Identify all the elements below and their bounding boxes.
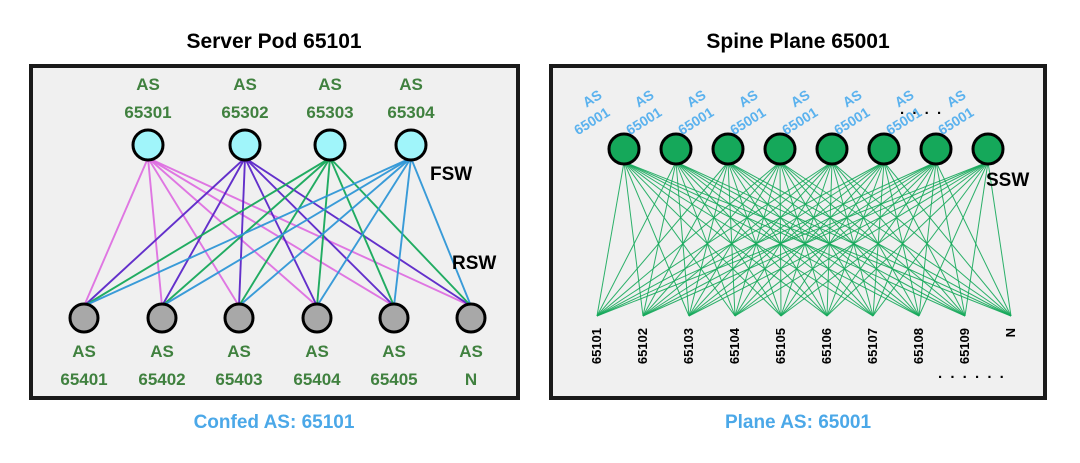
fsw-as-prefix: AS bbox=[318, 75, 342, 94]
fsw-as-prefix: AS bbox=[399, 75, 423, 94]
rsw-as-number: 65404 bbox=[293, 370, 341, 389]
rsw-as-number: N bbox=[465, 370, 477, 389]
diagram-canvas: Server Pod 65101AS65301AS65302AS65303AS6… bbox=[0, 0, 1080, 463]
rsw-as-prefix: AS bbox=[227, 342, 251, 361]
left-panel-footer: Confed AS: 65101 bbox=[194, 412, 355, 433]
rsw-node[interactable] bbox=[457, 304, 485, 332]
ssw-tier-label: SSW bbox=[986, 170, 1029, 191]
ssw-node[interactable] bbox=[661, 134, 691, 164]
ssw-node[interactable] bbox=[817, 134, 847, 164]
rsw-node[interactable] bbox=[380, 304, 408, 332]
ssw-node[interactable] bbox=[765, 134, 795, 164]
ssw-node[interactable] bbox=[609, 134, 639, 164]
topology-svg: Server Pod 65101AS65301AS65302AS65303AS6… bbox=[0, 0, 1080, 463]
left-panel-box bbox=[31, 66, 518, 398]
right-panel-title: Spine Plane 65001 bbox=[706, 30, 890, 53]
pod-number-label: 65105 bbox=[773, 328, 788, 364]
pod-number-label: 65107 bbox=[865, 328, 880, 364]
rsw-as-number: 65403 bbox=[215, 370, 262, 389]
fsw-as-number: 65302 bbox=[221, 103, 268, 122]
ssw-node[interactable] bbox=[921, 134, 951, 164]
rsw-tier-label: RSW bbox=[452, 253, 496, 274]
rsw-as-prefix: AS bbox=[150, 342, 174, 361]
pod-label-ellipsis: . . . . . . bbox=[938, 365, 1006, 382]
pod-number-label: 65102 bbox=[635, 328, 650, 364]
fsw-as-number: 65303 bbox=[306, 103, 353, 122]
rsw-node[interactable] bbox=[70, 304, 98, 332]
pod-number-label: 65109 bbox=[957, 328, 972, 364]
fsw-as-prefix: AS bbox=[136, 75, 160, 94]
rsw-as-prefix: AS bbox=[72, 342, 96, 361]
pod-number-label: 65106 bbox=[819, 328, 834, 364]
rsw-as-prefix: AS bbox=[459, 342, 483, 361]
fsw-as-number: 65304 bbox=[387, 103, 435, 122]
rsw-node[interactable] bbox=[225, 304, 253, 332]
ssw-label-ellipsis: . . . . bbox=[900, 101, 943, 118]
fsw-node[interactable] bbox=[315, 130, 345, 160]
fsw-node[interactable] bbox=[396, 130, 426, 160]
pod-number-label: 65103 bbox=[681, 328, 696, 364]
rsw-as-prefix: AS bbox=[382, 342, 406, 361]
ssw-node[interactable] bbox=[973, 134, 1003, 164]
pod-number-label: N bbox=[1003, 328, 1018, 337]
fsw-as-prefix: AS bbox=[233, 75, 257, 94]
rsw-node[interactable] bbox=[148, 304, 176, 332]
ssw-node[interactable] bbox=[713, 134, 743, 164]
rsw-as-prefix: AS bbox=[305, 342, 329, 361]
pod-number-label: 65101 bbox=[589, 328, 604, 364]
rsw-node[interactable] bbox=[303, 304, 331, 332]
rsw-as-number: 65401 bbox=[60, 370, 107, 389]
rsw-as-number: 65402 bbox=[138, 370, 185, 389]
fsw-tier-label: FSW bbox=[430, 164, 472, 185]
pod-number-label: 65108 bbox=[911, 328, 926, 364]
right-panel-footer: Plane AS: 65001 bbox=[725, 412, 872, 433]
fsw-node[interactable] bbox=[230, 130, 260, 160]
fsw-as-number: 65301 bbox=[124, 103, 171, 122]
ssw-node[interactable] bbox=[869, 134, 899, 164]
rsw-as-number: 65405 bbox=[370, 370, 417, 389]
fsw-node[interactable] bbox=[133, 130, 163, 160]
left-panel-title: Server Pod 65101 bbox=[186, 30, 361, 53]
pod-number-label: 65104 bbox=[727, 327, 742, 364]
